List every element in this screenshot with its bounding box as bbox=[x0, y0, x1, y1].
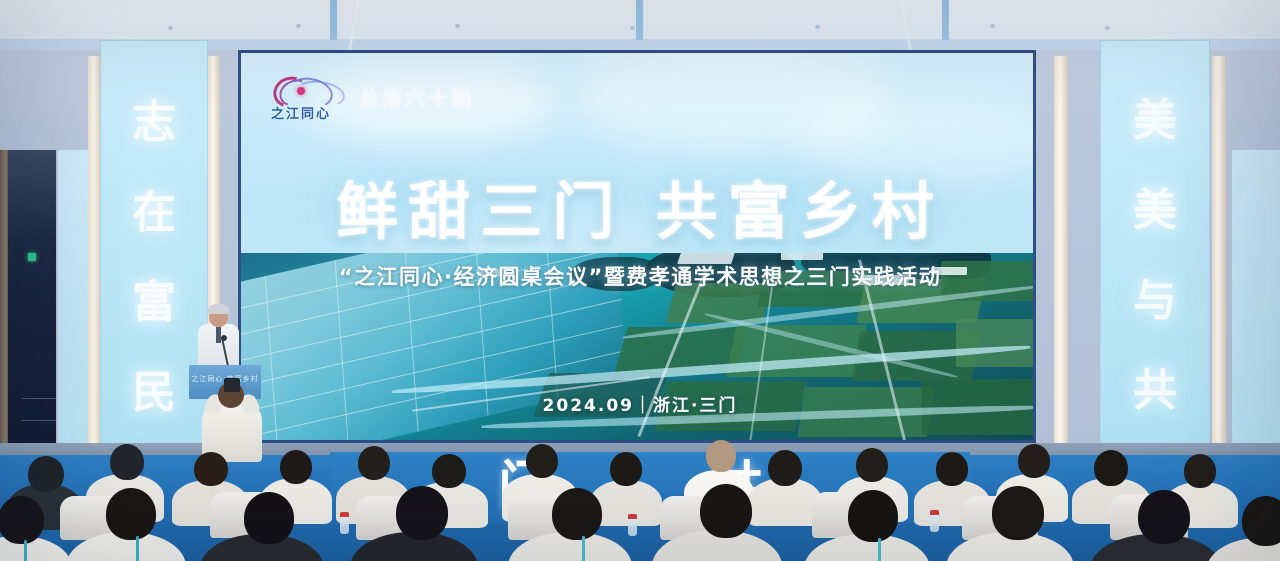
banner-char: 志 bbox=[132, 101, 176, 145]
banner-char: 民 bbox=[132, 371, 176, 415]
banner-char: 与 bbox=[1133, 279, 1177, 323]
slide-date-location: 2024.09｜浙江·三门 bbox=[241, 391, 1036, 416]
banner-char: 美 bbox=[1133, 189, 1177, 233]
wall-rail bbox=[22, 420, 56, 421]
right-banner-screen: 美 美 与 共 bbox=[1100, 40, 1210, 460]
wall-rail bbox=[22, 398, 56, 399]
banner-char: 美 bbox=[1133, 99, 1177, 143]
exit-sign-icon bbox=[28, 253, 36, 261]
logo-wordmark: 之江同心 bbox=[271, 103, 331, 122]
camera-icon bbox=[224, 378, 240, 392]
side-doorway bbox=[8, 150, 56, 450]
pillar bbox=[1212, 56, 1226, 456]
conference-hall-scene: 志 在 富 民 美 美 与 共 bbox=[0, 0, 1280, 561]
main-led-screen: 之江同心 总第六十期 鲜甜三门 共富乡村 “之江同心·经济圆桌会议”暨费孝通学术… bbox=[238, 50, 1036, 443]
slide-subtitle: “之江同心·经济圆桌会议”暨费孝通学术思想之三门实践活动 bbox=[241, 261, 1036, 291]
ripple-swirl-logo-icon: 之江同心 bbox=[271, 75, 345, 117]
far-right-wall-screen bbox=[1232, 150, 1280, 450]
banner-char: 在 bbox=[132, 191, 176, 235]
pillar bbox=[1054, 56, 1068, 456]
slide-main-title: 鲜甜三门 共富乡村 bbox=[241, 181, 1036, 243]
audience-seating bbox=[0, 430, 1280, 561]
microphone-icon bbox=[221, 335, 227, 341]
logo-watermark-text: 总第六十期 bbox=[359, 82, 474, 111]
event-logo: 之江同心 总第六十期 bbox=[271, 75, 474, 117]
banner-char: 共 bbox=[1133, 369, 1177, 413]
banner-char: 富 bbox=[132, 281, 176, 325]
